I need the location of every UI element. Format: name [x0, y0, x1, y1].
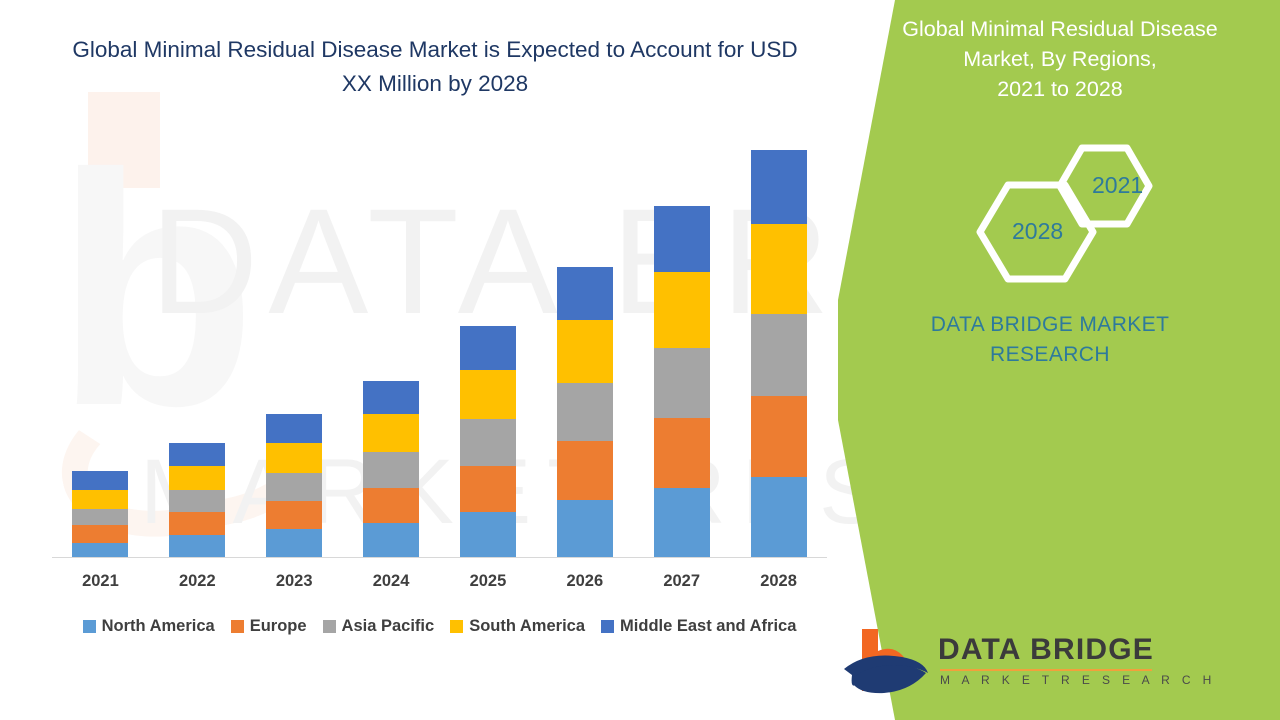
- legend-item[interactable]: Asia Pacific: [323, 617, 435, 636]
- stacked-bar: [266, 414, 322, 558]
- bar-column-2024: [343, 140, 440, 558]
- stacked-bar: [460, 326, 516, 558]
- legend-label: Asia Pacific: [342, 617, 435, 636]
- bar-segment: [266, 414, 322, 443]
- panel-title-line-2: Market, By Regions,: [860, 44, 1260, 74]
- x-axis-label-2026: 2026: [536, 572, 633, 591]
- bar-column-2021: [52, 140, 149, 558]
- panel-title: Global Minimal Residual Disease Market, …: [860, 14, 1260, 104]
- chart-legend: North AmericaEuropeAsia PacificSouth Ame…: [52, 617, 827, 636]
- stacked-bar: [72, 471, 128, 558]
- bar-segment: [654, 206, 710, 272]
- bar-segment: [363, 523, 419, 558]
- bar-segment: [169, 535, 225, 558]
- hexagon-2021-label: 2021: [1092, 172, 1143, 199]
- bar-segment: [460, 512, 516, 558]
- bar-segment: [266, 529, 322, 558]
- legend-item[interactable]: South America: [450, 617, 585, 636]
- x-axis-labels: 20212022202320242025202620272028: [52, 572, 827, 591]
- bar-column-2028: [730, 140, 827, 558]
- legend-swatch-icon: [601, 620, 614, 633]
- bar-segment: [363, 381, 419, 414]
- x-axis-line: [52, 557, 827, 558]
- stacked-bar-chart: [52, 140, 827, 558]
- bar-segment: [266, 443, 322, 474]
- legend-label: North America: [102, 617, 215, 636]
- x-axis-label-2027: 2027: [633, 572, 730, 591]
- x-axis-label-2028: 2028: [730, 572, 827, 591]
- bar-segment: [751, 477, 807, 558]
- stacked-bar: [363, 381, 419, 558]
- bar-segment: [72, 509, 128, 526]
- data-bridge-logo: DATA BRIDGE M A R K E T R E S E A R C H: [840, 625, 1260, 705]
- bar-column-2025: [440, 140, 537, 558]
- bar-segment: [751, 314, 807, 397]
- legend-label: South America: [469, 617, 585, 636]
- logo-divider: [940, 669, 1152, 671]
- bar-segment: [169, 490, 225, 512]
- bar-segment: [460, 370, 516, 420]
- logo-tagline: M A R K E T R E S E A R C H: [940, 673, 1216, 687]
- bar-segment: [460, 419, 516, 465]
- chart-title: Global Minimal Residual Disease Market i…: [55, 33, 815, 101]
- bar-segment: [363, 452, 419, 487]
- logo-wordmark: DATA BRIDGE: [938, 633, 1154, 667]
- hexagon-2028-label: 2028: [1012, 218, 1063, 245]
- bar-column-2022: [149, 140, 246, 558]
- bar-segment: [169, 443, 225, 466]
- bar-segment: [266, 473, 322, 501]
- x-axis-label-2024: 2024: [343, 572, 440, 591]
- bar-segment: [654, 418, 710, 487]
- stacked-bar: [654, 206, 710, 558]
- stacked-bar: [557, 267, 613, 558]
- bar-segment: [169, 466, 225, 490]
- bar-segment: [557, 500, 613, 558]
- legend-label: Middle East and Africa: [620, 617, 796, 636]
- panel-brand-line-2: RESEARCH: [850, 340, 1250, 370]
- legend-label: Europe: [250, 617, 307, 636]
- infographic-canvas: b DATA BRIDGE MARKET RESEARCH Global Min…: [0, 0, 1280, 720]
- bar-segment: [557, 267, 613, 321]
- panel-brand-text: DATA BRIDGE MARKET RESEARCH: [850, 310, 1250, 370]
- bar-segment: [72, 490, 128, 509]
- logo-mark-icon: [840, 625, 932, 697]
- bar-column-2026: [536, 140, 633, 558]
- bar-segment: [654, 488, 710, 558]
- legend-swatch-icon: [83, 620, 96, 633]
- legend-swatch-icon: [450, 620, 463, 633]
- bar-column-2023: [246, 140, 343, 558]
- bar-segment: [363, 414, 419, 453]
- x-axis-label-2025: 2025: [440, 572, 537, 591]
- bar-segment: [557, 441, 613, 499]
- legend-swatch-icon: [231, 620, 244, 633]
- bar-column-2027: [633, 140, 730, 558]
- bar-segment: [363, 488, 419, 523]
- bar-segment: [169, 512, 225, 535]
- legend-item[interactable]: Middle East and Africa: [601, 617, 796, 636]
- bar-segment: [460, 326, 516, 370]
- panel-title-line-1: Global Minimal Residual Disease: [860, 14, 1260, 44]
- stacked-bar: [751, 150, 807, 558]
- bar-segment: [72, 543, 128, 558]
- legend-swatch-icon: [323, 620, 336, 633]
- x-axis-label-2022: 2022: [149, 572, 246, 591]
- bar-segment: [557, 320, 613, 383]
- bar-segment: [751, 150, 807, 224]
- stacked-bar: [169, 443, 225, 558]
- x-axis-label-2023: 2023: [246, 572, 343, 591]
- bar-segment: [654, 272, 710, 348]
- right-green-panel: Global Minimal Residual Disease Market, …: [820, 0, 1280, 720]
- panel-brand-line-1: DATA BRIDGE MARKET: [850, 310, 1250, 340]
- bar-segment: [460, 466, 516, 512]
- legend-item[interactable]: North America: [83, 617, 215, 636]
- x-axis-label-2021: 2021: [52, 572, 149, 591]
- bar-segment: [751, 224, 807, 314]
- bar-segment: [654, 348, 710, 418]
- bar-segment: [266, 501, 322, 530]
- legend-item[interactable]: Europe: [231, 617, 307, 636]
- panel-title-line-3: 2021 to 2028: [860, 74, 1260, 104]
- bar-segment: [751, 396, 807, 476]
- bar-segment: [72, 471, 128, 490]
- bar-segment: [557, 383, 613, 441]
- bar-segment: [72, 525, 128, 543]
